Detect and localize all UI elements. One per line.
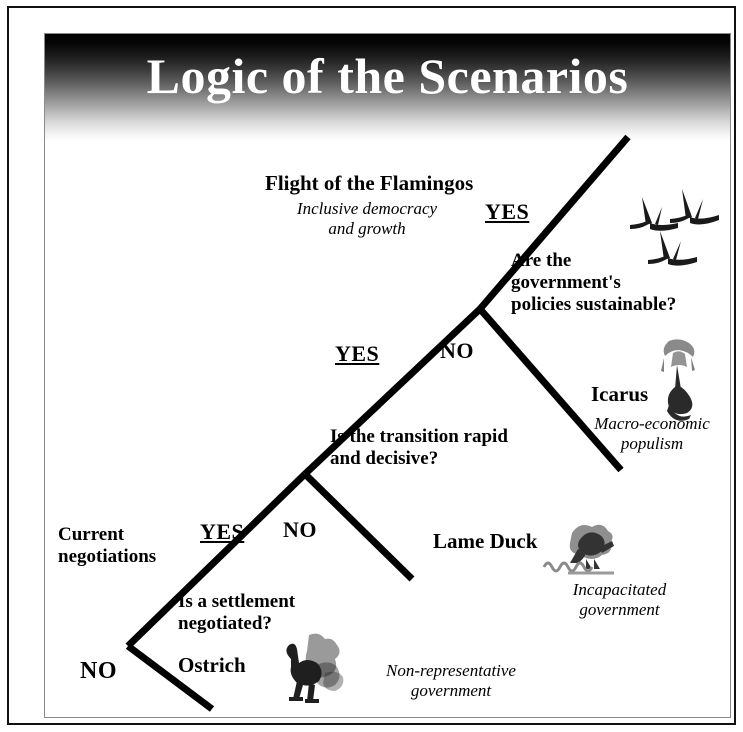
icarus-icon [651, 337, 707, 422]
branch-label-q1-no: NO [283, 517, 317, 543]
branch-label-root-no: NO [80, 657, 117, 685]
branch-q2-no [305, 474, 412, 579]
diagram-canvas: Logic of the Scenarios Flight of the Fla… [44, 33, 731, 718]
branch-label-q3-yes: YES [485, 199, 529, 225]
root-label-current-negotiations: Current negotiations [58, 524, 208, 568]
outcome-ostrich-title: Ostrich [178, 653, 246, 678]
question-policies-sustainable: Are the government's policies sustainabl… [511, 250, 731, 317]
outcome-flamingos-description: Inclusive democracy and growth [258, 199, 476, 239]
outer-border: Logic of the Scenarios Flight of the Fla… [7, 6, 736, 725]
outcome-icarus-title: Icarus [591, 382, 648, 407]
branch-label-q1-yes: YES [200, 519, 244, 545]
outcome-ostrich-description: Non-representative government [356, 661, 546, 701]
branch-label-q2-yes: YES [335, 341, 379, 367]
outcome-lame-duck-title: Lame Duck [433, 529, 537, 554]
diagram-page: Logic of the Scenarios Flight of the Fla… [0, 0, 743, 732]
outcome-flamingos-title: Flight of the Flamingos [265, 171, 473, 196]
ostrich-icon [263, 629, 353, 711]
question-transition-rapid: Is the transition rapid and decisive? [330, 426, 580, 470]
duck-icon [542, 519, 622, 584]
branch-label-q2-no: NO [440, 338, 474, 364]
outcome-lame-duck-description: Incapacitated government [527, 580, 712, 620]
outcome-icarus-description: Macro-economic populism [557, 414, 731, 454]
